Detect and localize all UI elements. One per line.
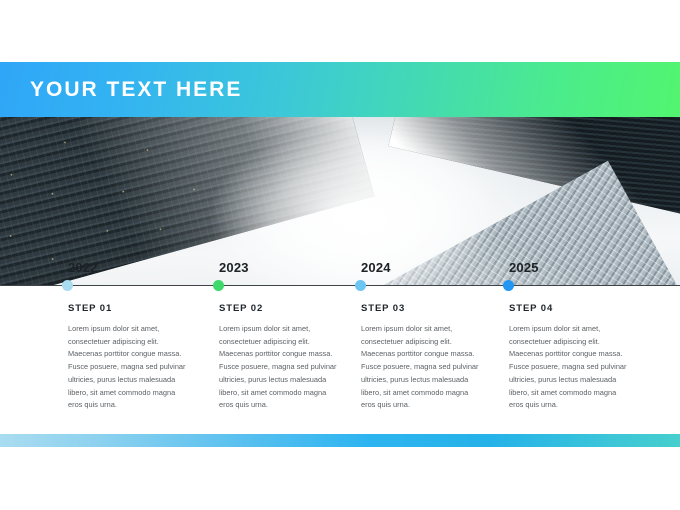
step-body-text: Lorem ipsum dolor sit amet, consectetuer… <box>509 323 629 412</box>
step-marker-dot[interactable] <box>503 280 514 291</box>
step-year-label: 2024 <box>361 260 391 275</box>
step-year-label: 2022 <box>68 260 98 275</box>
slide-canvas: YOUR TEXT HERE 2022 STEP 01 Lorem ipsum … <box>0 0 680 510</box>
step-title: STEP 04 <box>509 303 553 314</box>
step-title: STEP 01 <box>68 303 112 314</box>
step-body-text: Lorem ipsum dolor sit amet, consectetuer… <box>68 323 188 412</box>
step-title: STEP 03 <box>361 303 405 314</box>
step-year-label: 2023 <box>219 260 249 275</box>
step-title: STEP 02 <box>219 303 263 314</box>
step-body-text: Lorem ipsum dolor sit amet, consectetuer… <box>219 323 339 412</box>
step-marker-dot[interactable] <box>355 280 366 291</box>
step-marker-dot[interactable] <box>213 280 224 291</box>
footer-gradient-bar <box>0 434 680 447</box>
step-body-text: Lorem ipsum dolor sit amet, consectetuer… <box>361 323 481 412</box>
step-year-label: 2025 <box>509 260 539 275</box>
step-marker-dot[interactable] <box>62 280 73 291</box>
